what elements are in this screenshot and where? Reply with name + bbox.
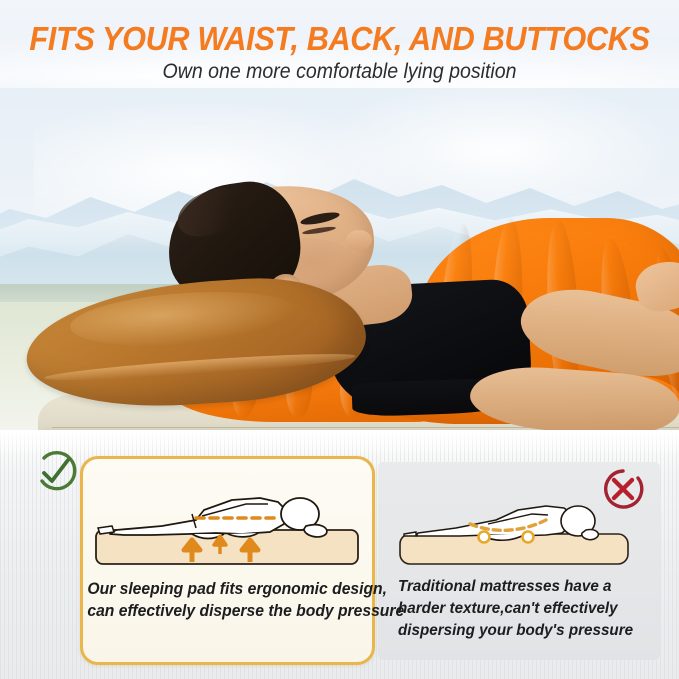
pillow-shape-bad [582, 530, 599, 540]
caption-line: dispersing your body's pressure [398, 620, 641, 642]
feet-shape-bad [404, 532, 416, 536]
cross-mark [614, 480, 632, 498]
caption-line: Our sleeping pad fits ergonomic design, [87, 578, 367, 600]
feet-shape-good [98, 526, 114, 534]
pillow-shape-good [304, 525, 327, 537]
caption-line: Traditional mattresses have a [398, 576, 641, 598]
pressure-point-marker [479, 532, 490, 543]
caption-our-pad: Our sleeping pad fits ergonomic design, … [87, 578, 367, 622]
hero-product-photo [0, 88, 679, 433]
page-subtitle: Own one more comfortable lying position [24, 59, 655, 85]
background-fade [0, 430, 679, 456]
cross-circle-icon [598, 464, 648, 514]
caption-line: harder texture,can't effectively [398, 598, 641, 620]
check-circle-icon [30, 448, 80, 498]
caption-line: can effectively disperse the body pressu… [87, 600, 367, 622]
diagram-our-sleeping-pad [92, 488, 364, 570]
page-headline: FITS YOUR WAIST, BACK, AND BUTTOCKS [24, 20, 655, 58]
caption-traditional: Traditional mattresses have a harder tex… [398, 576, 641, 642]
pressure-point-marker [523, 532, 534, 543]
check-mark [44, 460, 68, 481]
product-infographic: FITS YOUR WAIST, BACK, AND BUTTOCKS Own … [0, 0, 679, 679]
